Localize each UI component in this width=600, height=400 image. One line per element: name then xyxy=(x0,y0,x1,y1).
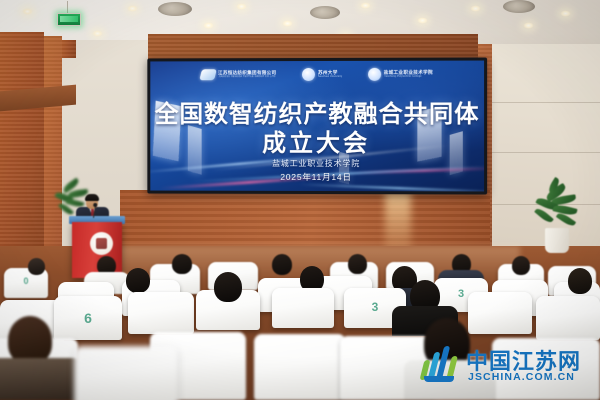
speaker-hair xyxy=(85,194,99,201)
logo-label-en: JIANGSU HENGDA TEXTILE GROUP CO.,LTD xyxy=(218,76,275,79)
stage-wall-light xyxy=(385,190,411,252)
watermark-en: JSCHINA.COM.CN xyxy=(468,371,575,383)
event-title-line2: 成立大会 xyxy=(150,123,484,158)
screen-light-streak xyxy=(299,183,484,191)
soochow-university-logo: 苏州大学 Soochow University xyxy=(302,68,343,81)
ceiling-vent xyxy=(158,2,192,16)
downlight xyxy=(523,22,534,29)
downlight xyxy=(127,5,138,12)
jiangsu-textile-group-logo: 江苏恒达纺织集团有限公司 JIANGSU HENGDA TEXTILE GROU… xyxy=(200,69,278,80)
downlight xyxy=(92,30,103,37)
seat-number: 6 xyxy=(54,310,122,326)
event-date: 2025年11月14日 xyxy=(150,171,484,184)
emergency-exit-sign xyxy=(57,13,81,26)
screenshot-root: 江苏恒达纺织集团有限公司 JIANGSU HENGDA TEXTILE GROU… xyxy=(0,0,600,400)
downlight xyxy=(236,3,247,10)
downlight xyxy=(470,5,481,12)
yancheng-polytechnic-college-logo: 盐城工业职业技术学院 Yancheng Polytechnic College xyxy=(368,68,433,81)
wood-panel xyxy=(0,32,44,262)
downlight xyxy=(560,10,571,17)
ceiling-vent xyxy=(310,6,340,19)
watermark: 中国江苏网 JSCHINA.COM.CN xyxy=(418,344,594,392)
seat xyxy=(254,334,346,400)
seat xyxy=(536,296,600,340)
stage-wall xyxy=(120,190,490,252)
led-display-frame: 江苏恒达纺织集团有限公司 JIANGSU HENGDA TEXTILE GROU… xyxy=(147,58,487,195)
downlight xyxy=(282,20,293,27)
jschina-logo-icon xyxy=(418,346,462,380)
downlight xyxy=(203,22,214,29)
downlight xyxy=(360,2,371,9)
seat: 6 xyxy=(54,296,122,340)
ceiling-vent xyxy=(503,0,535,13)
logo-label-en: Yancheng Polytechnic College xyxy=(384,75,431,78)
school-crest-icon xyxy=(90,232,113,255)
led-display: 江苏恒达纺织集团有限公司 JIANGSU HENGDA TEXTILE GROU… xyxy=(150,61,484,192)
textile-group-icon xyxy=(199,69,217,80)
logo-label-en: Soochow University xyxy=(318,76,342,79)
event-venue: 盐城工业职业技术学院 xyxy=(150,158,484,170)
seat xyxy=(468,292,532,334)
wood-panel xyxy=(44,36,62,262)
downlight xyxy=(22,8,33,15)
university-seal-icon xyxy=(302,68,315,81)
sponsor-logo-row: 江苏恒达纺织集团有限公司 JIANGSU HENGDA TEXTILE GROU… xyxy=(150,68,484,82)
seat-number: 0 xyxy=(4,276,48,286)
downlight xyxy=(417,17,428,24)
college-seal-icon xyxy=(368,68,381,81)
seat xyxy=(128,292,194,334)
wood-panel xyxy=(62,40,76,58)
seat xyxy=(272,288,334,328)
